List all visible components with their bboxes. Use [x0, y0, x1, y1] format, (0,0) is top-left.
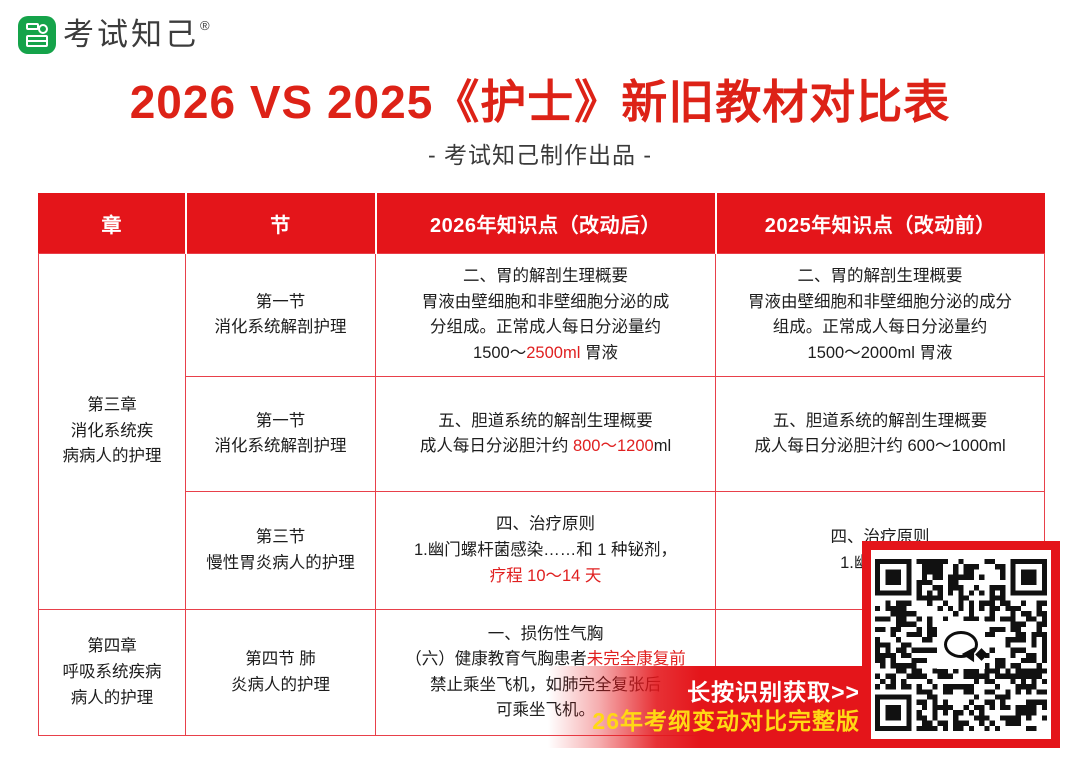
cell-2025-knowledge: 二、胃的解剖生理概要 胃液由壁细胞和非壁细胞分泌的成分 组成。正常成人每日分泌量…	[716, 254, 1045, 377]
highlight-text: 800～1200	[573, 437, 654, 455]
content-line: 胃液由壁细胞和非壁细胞分泌的成分	[722, 290, 1038, 316]
section-line: 第三节	[192, 525, 369, 551]
content-line: 1.幽门螺杆菌感染……和 1 种铋剂，	[382, 538, 709, 564]
table-header-row: 章 节 2026年知识点（改动后） 2025年知识点（改动前）	[39, 194, 1045, 254]
column-header-chapter: 章	[39, 194, 186, 254]
section-line: 消化系统解剖护理	[192, 315, 369, 341]
content-line: 五、胆道系统的解剖生理概要	[382, 409, 709, 435]
cell-2025-knowledge: 五、胆道系统的解剖生理概要 成人每日分泌胆汁约 600～1000ml	[716, 377, 1045, 492]
section-line: 慢性胃炎病人的护理	[192, 551, 369, 577]
content-line: 1500～2000ml 胃液	[722, 341, 1038, 367]
content-line-highlighted: 1500～2500ml 胃液	[382, 341, 709, 367]
line-prefix: 1500～	[473, 344, 526, 362]
cell-chapter: 第三章 消化系统疾 病病人的护理	[39, 254, 186, 610]
content-line: 五、胆道系统的解剖生理概要	[722, 409, 1038, 435]
column-header-2026: 2026年知识点（改动后）	[376, 194, 716, 254]
wechat-chat-bubble-icon	[937, 621, 985, 669]
banner-line-2: 26年考纲变动对比完整版	[592, 707, 860, 736]
qr-code-panel[interactable]	[862, 541, 1060, 748]
highlight-text: 2500ml	[526, 344, 580, 362]
column-header-2025: 2025年知识点（改动前）	[716, 194, 1045, 254]
cell-section: 第四节 肺 炎病人的护理	[186, 610, 376, 736]
cell-chapter: 第四章 呼吸系统疾病 病人的护理	[39, 610, 186, 736]
content-line: 二、胃的解剖生理概要	[382, 264, 709, 290]
table-row: 第一节 消化系统解剖护理 五、胆道系统的解剖生理概要 成人每日分泌胆汁约 800…	[39, 377, 1045, 492]
section-line: 第一节	[192, 290, 369, 316]
content-line: 组成。正常成人每日分泌量约	[722, 315, 1038, 341]
cell-2026-knowledge: 二、胃的解剖生理概要 胃液由壁细胞和非壁细胞分泌的成 分组成。正常成人每日分泌量…	[376, 254, 716, 377]
content-line: 四、治疗原则	[382, 512, 709, 538]
brand-logo: 考试知己 ®	[18, 16, 210, 54]
page-title: 2026 VS 2025《护士》新旧教材对比表	[0, 66, 1080, 132]
column-header-section: 节	[186, 194, 376, 254]
content-line: 一、损伤性气胸	[382, 622, 709, 648]
chapter-line: 第四章	[45, 634, 179, 660]
content-line: 分组成。正常成人每日分泌量约	[382, 315, 709, 341]
line-suffix: 胃液	[580, 344, 618, 362]
qr-call-to-action-banner: 长按识别获取>> 26年考纲变动对比完整版	[548, 666, 866, 748]
section-line: 第一节	[192, 409, 369, 435]
cell-2026-knowledge: 五、胆道系统的解剖生理概要 成人每日分泌胆汁约 800～1200ml	[376, 377, 716, 492]
qr-code-image[interactable]	[871, 550, 1051, 739]
line-prefix: 成人每日分泌胆汁约	[420, 437, 573, 455]
line-suffix: ml	[654, 437, 671, 455]
chapter-line: 消化系统疾	[45, 419, 179, 445]
cell-2026-knowledge: 四、治疗原则 1.幽门螺杆菌感染……和 1 种铋剂， 疗程 10～14 天	[376, 492, 716, 610]
cell-section: 第三节 慢性胃炎病人的护理	[186, 492, 376, 610]
kaoshizhiji-logo-icon	[18, 16, 56, 54]
banner-line-1: 长按识别获取>>	[687, 678, 860, 707]
chapter-line: 病人的护理	[45, 686, 179, 712]
section-line: 第四节 肺	[192, 647, 369, 673]
registered-mark: ®	[200, 19, 210, 32]
chapter-line: 病病人的护理	[45, 444, 179, 470]
cell-section: 第一节 消化系统解剖护理	[186, 254, 376, 377]
content-line: 胃液由壁细胞和非壁细胞分泌的成	[382, 290, 709, 316]
cell-section: 第一节 消化系统解剖护理	[186, 377, 376, 492]
chapter-line: 呼吸系统疾病	[45, 660, 179, 686]
content-line: 二、胃的解剖生理概要	[722, 264, 1038, 290]
chapter-line: 第三章	[45, 393, 179, 419]
table-row: 第三章 消化系统疾 病病人的护理 第一节 消化系统解剖护理 二、胃的解剖生理概要…	[39, 254, 1045, 377]
brand-name: 考试知己	[63, 16, 199, 54]
content-line: 成人每日分泌胆汁约 600～1000ml	[722, 434, 1038, 460]
section-line: 消化系统解剖护理	[192, 434, 369, 460]
highlight-text: 疗程 10～14 天	[382, 564, 709, 590]
section-line: 炎病人的护理	[192, 673, 369, 699]
page-subtitle: - 考试知己制作出品 -	[0, 136, 1080, 170]
content-line-highlighted: 成人每日分泌胆汁约 800～1200ml	[382, 434, 709, 460]
